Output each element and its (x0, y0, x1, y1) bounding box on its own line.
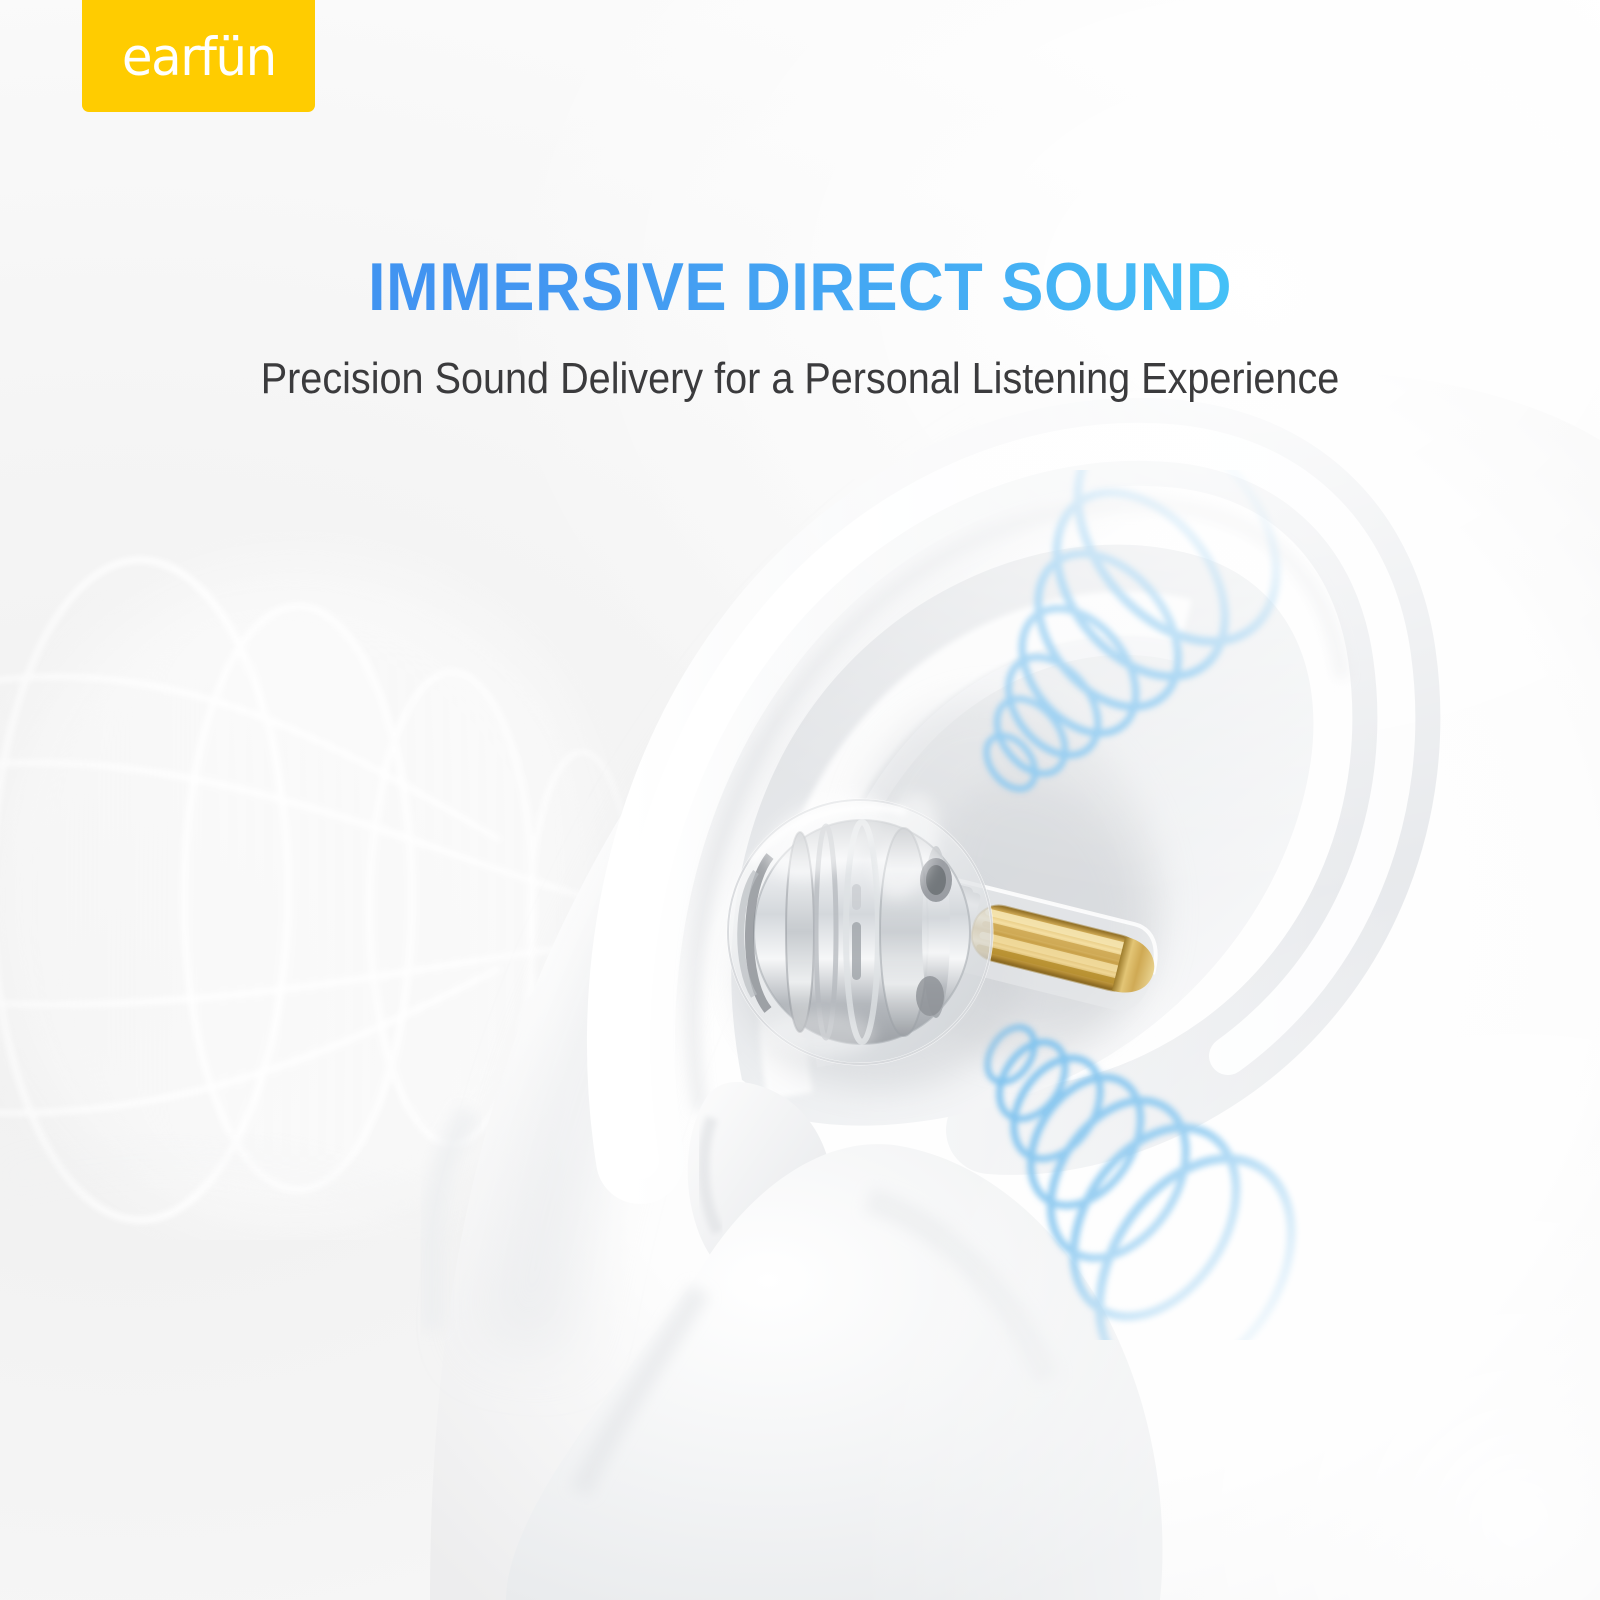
brand-logo-text: earfün (122, 31, 276, 84)
background-sheen (0, 0, 1600, 1600)
page-title: IMMERSIVE DIRECT SOUND (56, 253, 1544, 321)
product-marketing-banner: earfün IMMERSIVE DIRECT SOUND Precision … (0, 0, 1600, 1600)
page-subtitle: Precision Sound Delivery for a Personal … (80, 354, 1520, 403)
brand-logo-badge[interactable]: earfün (82, 0, 315, 112)
